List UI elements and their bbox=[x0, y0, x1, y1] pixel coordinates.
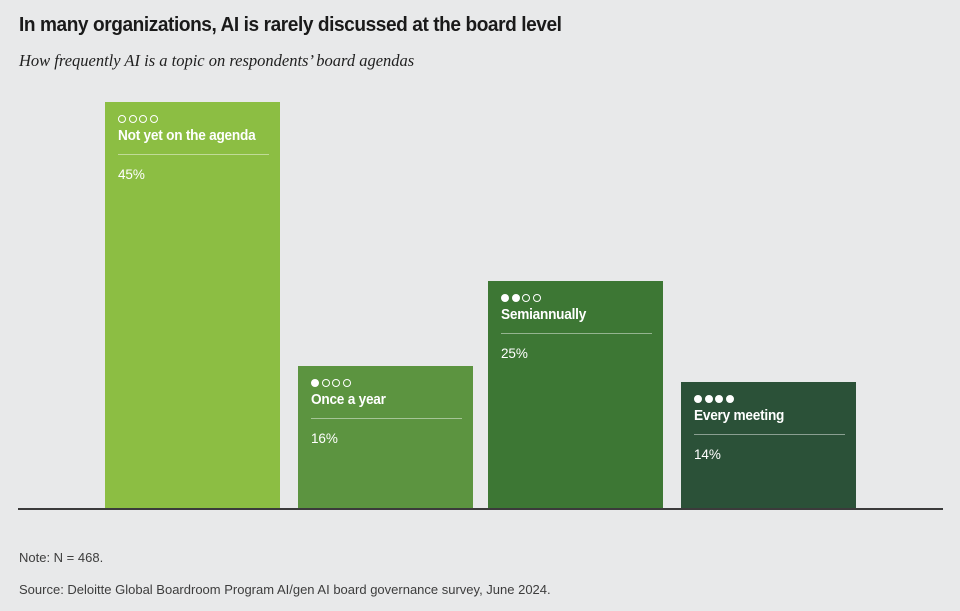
bar-value: 45% bbox=[118, 166, 269, 183]
dot-filled-icon bbox=[726, 395, 734, 403]
plot-area: Not yet on the agenda 45% Once a year 16… bbox=[0, 0, 960, 611]
dot-hollow-icon bbox=[118, 115, 126, 123]
frequency-dots-icon bbox=[118, 112, 269, 125]
bar-value: 16% bbox=[311, 430, 462, 447]
dot-filled-icon bbox=[501, 294, 509, 302]
bar-content: Not yet on the agenda 45% bbox=[118, 112, 269, 183]
bar-label: Not yet on the agenda bbox=[118, 127, 260, 146]
dot-hollow-icon bbox=[129, 115, 137, 123]
bar-label: Semiannually bbox=[501, 306, 643, 325]
frequency-dots-icon bbox=[501, 291, 652, 304]
bar-label: Once a year bbox=[311, 391, 453, 410]
bar-once-a-year[interactable]: Once a year 16% bbox=[298, 366, 473, 508]
chart-note: Note: N = 468. bbox=[19, 549, 103, 566]
divider bbox=[311, 418, 462, 419]
dot-hollow-icon bbox=[522, 294, 530, 302]
chart-container: In many organizations, AI is rarely disc… bbox=[0, 0, 960, 611]
bar-content: Every meeting 14% bbox=[694, 392, 845, 463]
dot-filled-icon bbox=[694, 395, 702, 403]
dot-hollow-icon bbox=[332, 379, 340, 387]
bar-label: Every meeting bbox=[694, 407, 836, 426]
divider bbox=[694, 434, 845, 435]
dot-hollow-icon bbox=[343, 379, 351, 387]
dot-hollow-icon bbox=[139, 115, 147, 123]
bar-content: Semiannually 25% bbox=[501, 291, 652, 362]
bar-value: 25% bbox=[501, 345, 652, 362]
dot-hollow-icon bbox=[150, 115, 158, 123]
bar-every-meeting[interactable]: Every meeting 14% bbox=[681, 382, 856, 508]
bar-semiannually[interactable]: Semiannually 25% bbox=[488, 281, 663, 508]
bar-value: 14% bbox=[694, 446, 845, 463]
divider bbox=[501, 333, 652, 334]
dot-filled-icon bbox=[705, 395, 713, 403]
divider bbox=[118, 154, 269, 155]
dot-filled-icon bbox=[512, 294, 520, 302]
dot-hollow-icon bbox=[533, 294, 541, 302]
chart-source: Source: Deloitte Global Boardroom Progra… bbox=[19, 581, 551, 598]
axis-baseline bbox=[18, 508, 943, 510]
dot-hollow-icon bbox=[322, 379, 330, 387]
frequency-dots-icon bbox=[311, 376, 462, 389]
dot-filled-icon bbox=[311, 379, 319, 387]
bar-content: Once a year 16% bbox=[311, 376, 462, 447]
dot-filled-icon bbox=[715, 395, 723, 403]
bar-not-yet-on-the-agenda[interactable]: Not yet on the agenda 45% bbox=[105, 102, 280, 508]
frequency-dots-icon bbox=[694, 392, 845, 405]
